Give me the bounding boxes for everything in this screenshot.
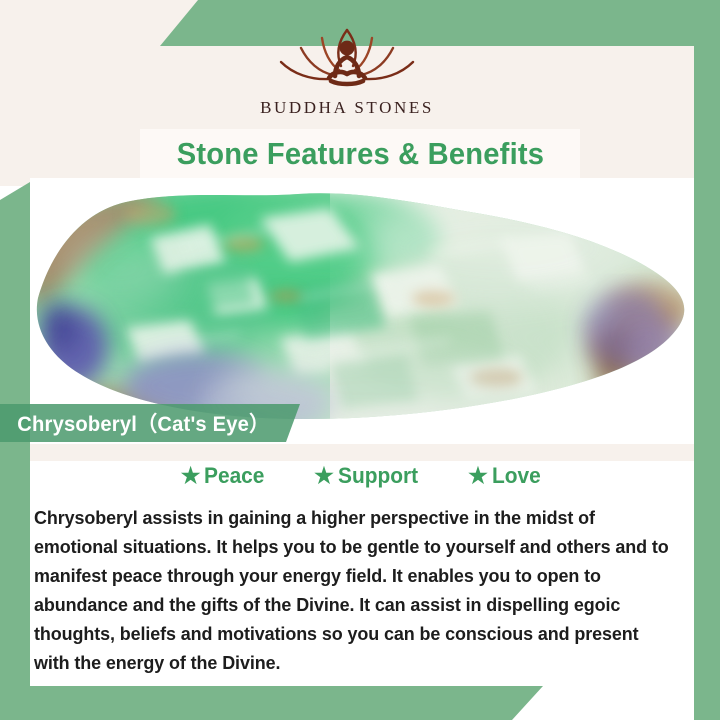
keyword-label: Peace <box>204 463 264 489</box>
stone-name-banner: Chrysoberyl（Cat's Eye） <box>0 404 300 442</box>
keyword-support: ★ Support <box>314 463 422 489</box>
keyword-label: Love <box>492 463 541 489</box>
stone-name-label: Chrysoberyl（Cat's Eye） <box>0 408 269 438</box>
photo-under-strip <box>30 444 694 461</box>
frame-bar-bottom <box>0 686 600 720</box>
stone-features-poster: BUDDHA STONES <box>0 0 720 720</box>
brand-logo: BUDDHA STONES <box>0 22 694 118</box>
frame-bar-left <box>0 182 30 720</box>
description-block: Chrysoberyl assists in gaining a higher … <box>30 503 694 677</box>
star-icon: ★ <box>314 465 334 487</box>
star-icon: ★ <box>468 465 488 487</box>
page-title: Stone Features & Benefits <box>176 136 543 172</box>
keyword-love: ★ Love <box>468 463 543 489</box>
description-text: Chrysoberyl assists in gaining a higher … <box>34 503 670 677</box>
keyword-row: ★ Peace ★ Support ★ Love <box>30 463 694 489</box>
title-banner: Stone Features & Benefits <box>140 129 580 178</box>
frame-bar-right <box>694 0 720 720</box>
brand-name: BUDDHA STONES <box>0 98 694 118</box>
keyword-label: Support <box>338 463 418 489</box>
lotus-meditation-icon <box>267 22 427 96</box>
keyword-peace: ★ Peace <box>181 463 268 489</box>
star-icon: ★ <box>181 465 201 487</box>
